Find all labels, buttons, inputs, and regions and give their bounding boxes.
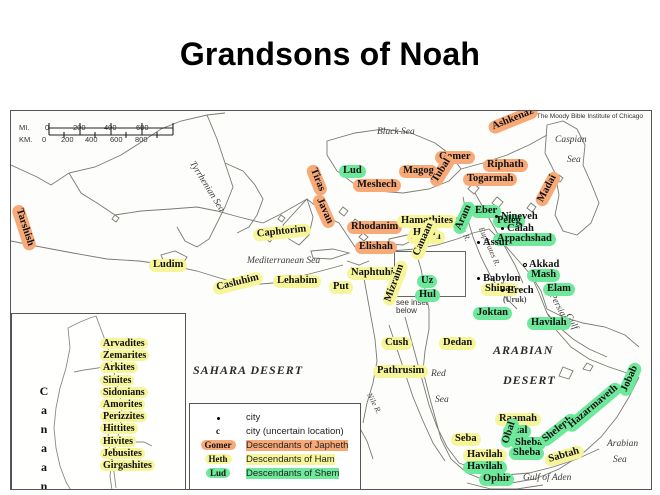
map-label-riphath[interactable]: Riphath bbox=[483, 159, 528, 172]
scale-km-label: KM. bbox=[19, 135, 32, 144]
map-label-cush[interactable]: Cush bbox=[381, 337, 412, 350]
sea-label: Sea bbox=[567, 155, 581, 166]
map-label-ludim[interactable]: Ludim bbox=[149, 259, 187, 272]
key-row: HethDescendants of Ham bbox=[190, 452, 360, 466]
canaan-tribe-item: Jebusites bbox=[100, 448, 145, 459]
city-label-nineveh[interactable]: Nineveh bbox=[501, 211, 538, 222]
city-sublabel-uruk: (Uruk) bbox=[503, 295, 527, 304]
map-label-ophir[interactable]: Ophir bbox=[479, 473, 514, 486]
key-row-label: city bbox=[246, 412, 260, 423]
map-label-elishah[interactable]: Elishah bbox=[355, 241, 397, 254]
city-label-babylon[interactable]: Babylon bbox=[483, 273, 520, 284]
key-uncertain-city-icon: c bbox=[190, 426, 246, 436]
map-label-lehabim[interactable]: Lehabim bbox=[273, 275, 321, 288]
scale-mi-tick-0: 0 bbox=[45, 123, 49, 132]
map-label-seba[interactable]: Seba bbox=[451, 433, 481, 446]
canaan-tribe-item: Girgashites bbox=[100, 460, 155, 471]
city-label-assur[interactable]: Assur bbox=[483, 237, 509, 248]
canaan-tribe-item: Hittites bbox=[100, 423, 138, 434]
map-label-dedan[interactable]: Dedan bbox=[439, 337, 476, 350]
sea-label: Caspian bbox=[555, 135, 587, 146]
city-label-akkad[interactable]: Akkad bbox=[529, 259, 559, 270]
key-row-label: Descendants of Japheth bbox=[246, 440, 348, 451]
map-label-elam[interactable]: Elam bbox=[543, 283, 575, 296]
city-marker-nineveh bbox=[495, 215, 498, 218]
key-row-label: city (uncertain location) bbox=[246, 426, 344, 437]
region-label: SAHARA DESERT bbox=[193, 363, 303, 378]
key-city-dot-icon bbox=[190, 412, 246, 422]
city-label-calah[interactable]: Calah bbox=[507, 223, 534, 234]
sea-label: Gulf of Aden bbox=[523, 473, 571, 484]
inset-note: see inset below bbox=[396, 299, 428, 316]
canaan-tribe-item: Amorites bbox=[100, 399, 145, 410]
sea-label: Arabian bbox=[607, 439, 638, 450]
map-label-uz[interactable]: Uz bbox=[417, 275, 437, 288]
scale-km-tick-4: 800 bbox=[135, 135, 148, 144]
map-label-hul[interactable]: Hul bbox=[415, 289, 440, 302]
canaan-tribe-item: Arkites bbox=[100, 362, 138, 373]
map-label-rhodanim[interactable]: Rhodanim bbox=[347, 221, 402, 234]
city-marker-erech bbox=[501, 289, 504, 292]
slide-root: Grandsons of Noah bbox=[0, 0, 660, 495]
map-canvas[interactable]: MI. KM. 0 200 400 600 0 200 400 600 800 … bbox=[10, 110, 652, 490]
map-label-joktan[interactable]: Joktan bbox=[473, 307, 512, 320]
scale-km-tick-1: 200 bbox=[61, 135, 74, 144]
key-row: GomerDescendants of Japheth bbox=[190, 438, 360, 452]
canaan-tribe-item: Sinites bbox=[100, 375, 134, 386]
map-label-havilah[interactable]: Havilah bbox=[463, 449, 507, 462]
city-marker-calah bbox=[501, 227, 504, 230]
map-label-put[interactable]: Put bbox=[329, 281, 353, 294]
sea-label: Black Sea bbox=[377, 127, 415, 138]
scale-mi-tick-1: 200 bbox=[73, 123, 86, 132]
key-sample-chip-shem: Lud bbox=[190, 468, 246, 478]
map-label-meshech[interactable]: Meshech bbox=[353, 179, 401, 192]
map-label-mash[interactable]: Mash bbox=[527, 269, 560, 282]
sea-label: Sea bbox=[613, 455, 627, 466]
map-label-pathrusim[interactable]: Pathrusim bbox=[373, 365, 428, 378]
canaan-tribe-item: Zemarites bbox=[100, 350, 149, 361]
canaan-tribe-item: Sidonians bbox=[100, 387, 148, 398]
scale-mi-tick-3: 600 bbox=[136, 123, 149, 132]
sea-label: Red bbox=[431, 369, 446, 380]
scale-km-tick-3: 600 bbox=[110, 135, 123, 144]
canaan-tribe-item: Arvadites bbox=[100, 338, 148, 349]
map-label-havilah[interactable]: Havilah bbox=[527, 317, 571, 330]
map-label-havilah[interactable]: Havilah bbox=[463, 461, 507, 474]
canaan-tribe-item: Perizzites bbox=[100, 411, 147, 422]
sea-label: Sea bbox=[435, 395, 449, 406]
map-label-sheba[interactable]: Sheba bbox=[509, 447, 544, 460]
map-label-togarmah[interactable]: Togarmah bbox=[463, 173, 517, 186]
sea-label: Mediterranean Sea bbox=[247, 256, 320, 267]
canaan-tribe-list: ArvaditesZemaritesArkitesSinitesSidonian… bbox=[100, 338, 155, 472]
city-marker-assur bbox=[477, 241, 480, 244]
canaan-tribe-item: Hivites bbox=[100, 436, 136, 447]
scale-mi-tick-2: 400 bbox=[104, 123, 117, 132]
map-key: cityccity (uncertain location)GomerDesce… bbox=[189, 403, 361, 490]
key-row: city bbox=[190, 410, 360, 424]
map-label-lud[interactable]: Lud bbox=[339, 165, 366, 178]
canaan-vertical-label: Canaan bbox=[36, 384, 51, 490]
page-title: Grandsons of Noah bbox=[0, 36, 660, 73]
key-sample-chip-ham: Heth bbox=[190, 454, 246, 464]
key-row-label: Descendants of Ham bbox=[246, 454, 335, 465]
city-marker-akkad bbox=[523, 263, 527, 267]
scale-km-tick-0: 0 bbox=[42, 135, 46, 144]
key-row: LudDescendants of Shem bbox=[190, 466, 360, 480]
scale-mi-label: MI. bbox=[19, 123, 29, 132]
region-label: DESERT bbox=[503, 373, 556, 388]
region-label: ARABIAN bbox=[493, 343, 553, 358]
key-sample-chip-japheth: Gomer bbox=[190, 440, 246, 450]
canaan-detail-inset[interactable]: Canaan ArvaditesZemaritesArkitesSinitesS… bbox=[11, 313, 186, 490]
scale-km-tick-2: 400 bbox=[85, 135, 98, 144]
key-row: ccity (uncertain location) bbox=[190, 424, 360, 438]
city-marker-babylon bbox=[477, 277, 480, 280]
key-row-label: Descendants of Shem bbox=[246, 468, 339, 479]
